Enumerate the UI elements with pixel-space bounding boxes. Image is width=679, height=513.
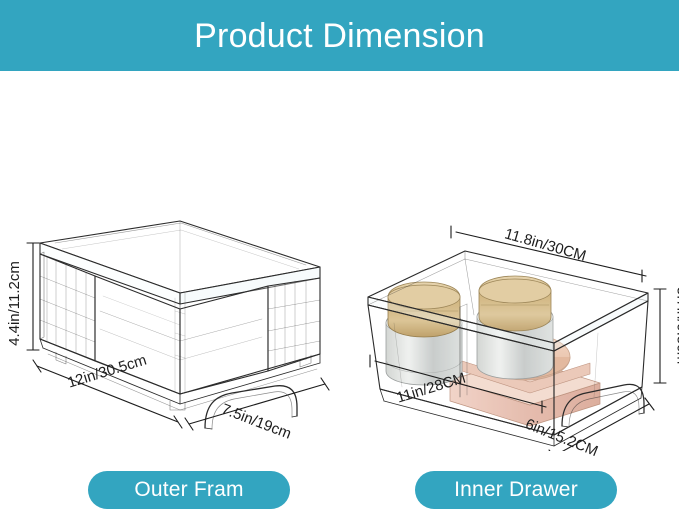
product-labels-footer: Outer Fram Inner Drawer [0,451,679,513]
outer-frame-panel: 4.4in/11.2cm 12in/30.5cm 7.5in/19cm [0,71,350,451]
outer-frame-label-button[interactable]: Outer Fram [88,471,290,509]
header-banner: Product Dimension [0,0,679,71]
inner-drawer-panel: 11.8in/30CM 3.7in/9.5cm 11in/28CM 6in/15… [350,71,679,451]
inner-drawer-label-button[interactable]: Inner Drawer [415,471,617,509]
product-illustration-stage: 4.4in/11.2cm 12in/30.5cm 7.5in/19cm [0,71,679,451]
outer-frame-height-label: 4.4in/11.2cm [7,261,22,346]
clear-storage-drawer-frame-icon [0,71,350,451]
page-title: Product Dimension [194,19,485,53]
inner-drawer-height-label: 3.7in/9.5cm [674,287,679,365]
